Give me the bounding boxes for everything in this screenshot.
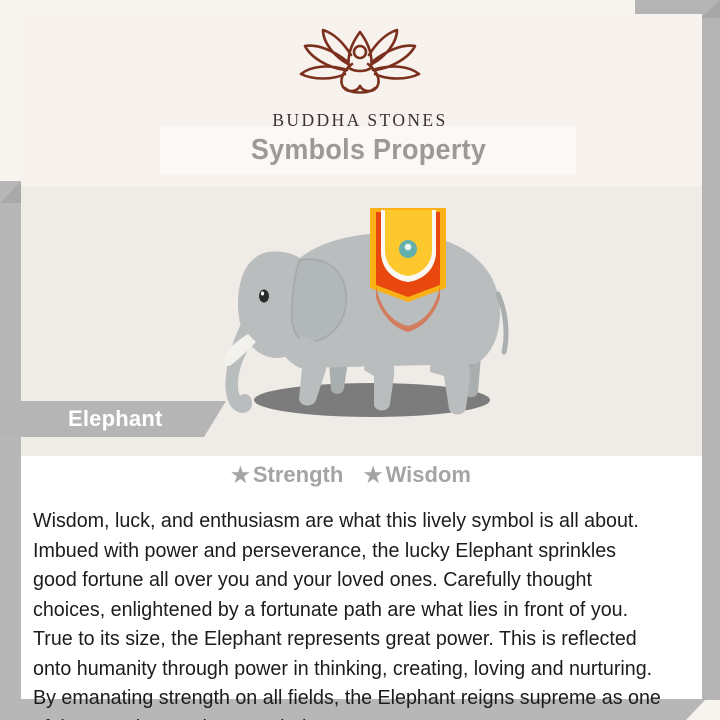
page-title: Symbols Property: [250, 134, 485, 167]
star-icon: ★: [364, 464, 383, 487]
figure-head-icon: [354, 46, 366, 58]
symbol-attributes: ★Strength ★Wisdom: [0, 462, 702, 488]
title-band: Symbols Property: [160, 126, 576, 174]
attribute-strength: ★Strength: [231, 462, 343, 488]
symbol-description: Wisdom, luck, and enthusiasm are what th…: [33, 507, 661, 720]
symbol-name: Elephant: [68, 406, 163, 432]
attribute-wisdom-label: Wisdom: [386, 462, 471, 487]
saddle-jewel-highlight: [405, 244, 412, 251]
elephant-eye: [259, 290, 269, 303]
elephant-eye-highlight: [261, 292, 264, 296]
lotus-meditation-figure-icon: [285, 24, 435, 106]
brand-logo: BUDDHA STONES: [0, 24, 720, 131]
attribute-wisdom: ★Wisdom: [364, 462, 471, 488]
attribute-strength-label: Strength: [253, 462, 343, 487]
star-icon: ★: [231, 464, 250, 487]
symbol-property-card: BUDDHA STONES Symbols Property: [0, 0, 720, 720]
symbol-name-banner: Elephant: [0, 401, 226, 437]
